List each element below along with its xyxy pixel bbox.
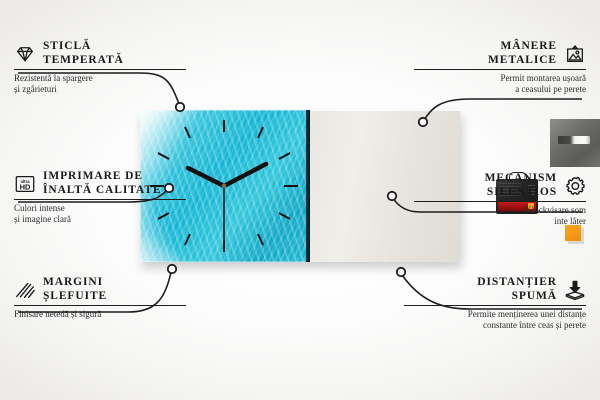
- hour-hand: [188, 168, 224, 186]
- callout-subtitle: Finisare netedă și sigură: [14, 309, 186, 320]
- metal-hanger-bracket: [550, 119, 600, 167]
- minute-hand: [224, 164, 266, 186]
- callout-title: IMPRIMARE DEÎNALTĂ CALITATE: [43, 170, 161, 197]
- callout-subtitle: Culori intenseși imagine clară: [14, 203, 186, 225]
- callout-title: MÂNEREMETALICE: [488, 40, 557, 67]
- callout-subtitle: Klockvisare sominte låter: [414, 205, 586, 227]
- callout-subtitle: Permit montarea ușoarăa ceasului pe pere…: [414, 73, 586, 95]
- callout-rule: [414, 69, 586, 70]
- callout-head: ultra HD IMPRIMARE DEÎNALTĂ CALITATE: [14, 170, 186, 197]
- callout-rule: [14, 305, 186, 306]
- infographic-canvas: STICLĂTEMPERATĂ Rezistentă la spargereși…: [0, 0, 600, 400]
- press-down-icon: [564, 279, 586, 301]
- product-image: [140, 110, 460, 262]
- callout-foam-spacer: DISTANȚIERSPUMĂ Permite menținerea unei …: [404, 276, 586, 331]
- ultra-hd-icon: ultra HD: [14, 173, 36, 195]
- callout-tempered-glass: STICLĂTEMPERATĂ Rezistentă la spargereși…: [14, 40, 186, 95]
- foam-spacer: [565, 225, 581, 241]
- hanger-slot: [558, 136, 590, 144]
- callout-metal-handles: MÂNEREMETALICE Permit montarea ușoarăa c…: [414, 40, 586, 95]
- callout-rule: [404, 305, 586, 306]
- callout-head: MARGINIȘLEFUITE: [14, 276, 186, 303]
- callout-head: MÂNEREMETALICE: [414, 40, 586, 67]
- callout-polished-edges: MARGINIȘLEFUITE Finisare netedă și sigur…: [14, 276, 186, 320]
- callout-head: MECANISMSILENȚIOS: [414, 172, 586, 199]
- callout-head: STICLĂTEMPERATĂ: [14, 40, 186, 67]
- callout-rule: [414, 201, 586, 202]
- picture-hanger-icon: [564, 43, 586, 65]
- polished-edges-icon: [14, 279, 36, 301]
- callout-head: DISTANȚIERSPUMĂ: [404, 276, 586, 303]
- callout-title: DISTANȚIERSPUMĂ: [477, 276, 557, 303]
- callout-title: MECANISMSILENȚIOS: [485, 172, 557, 199]
- connector-dot-foam-spacer: [397, 268, 405, 276]
- callout-subtitle: Permite menținerea unei distanțeconstant…: [404, 309, 586, 331]
- gear-icon: [564, 175, 586, 197]
- callout-title: STICLĂTEMPERATĂ: [43, 40, 124, 67]
- callout-silent-mechanism: MECANISMSILENȚIOS Klockvisare sominte lå…: [414, 172, 586, 227]
- callout-rule: [14, 69, 186, 70]
- callout-subtitle: Rezistentă la spargereși zgârieturi: [14, 73, 186, 95]
- clock-center-cap: [222, 184, 227, 189]
- ultra-hd-large-text: HD: [20, 182, 31, 191]
- callout-title: MARGINIȘLEFUITE: [43, 276, 107, 303]
- callout-rule: [14, 199, 186, 200]
- callout-high-quality-print: ultra HD IMPRIMARE DEÎNALTĂ CALITATE Cul…: [14, 170, 186, 225]
- diamond-icon: [14, 43, 36, 65]
